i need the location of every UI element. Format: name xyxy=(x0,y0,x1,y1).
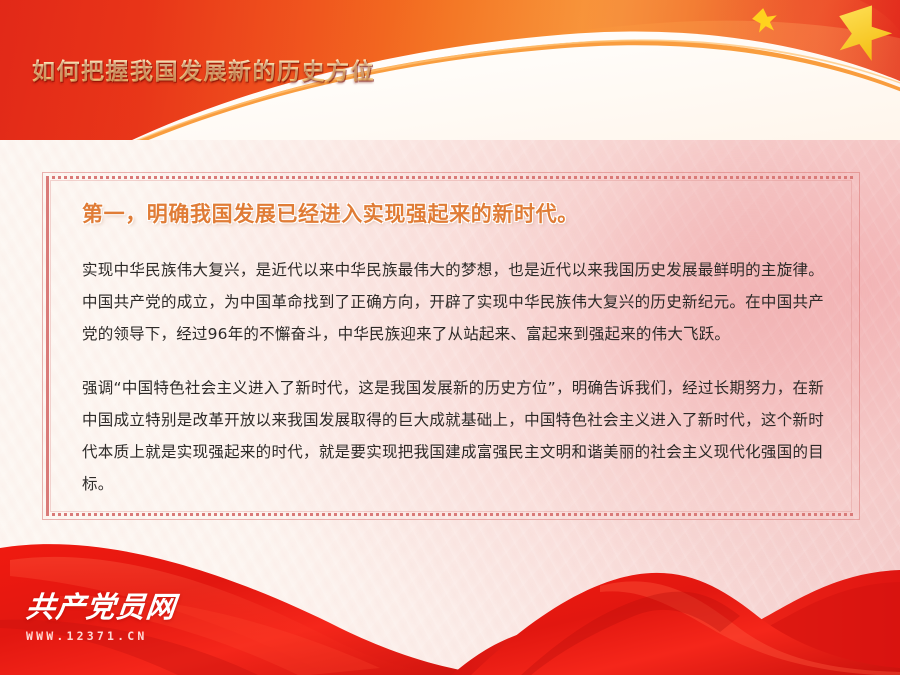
content-card: 第一，明确我国发展已经进入实现强起来的新时代。 实现中华民族伟大复兴，是近代以来… xyxy=(42,172,860,520)
flag-star-small-icon-1 xyxy=(750,6,779,35)
section-heading: 第一，明确我国发展已经进入实现强起来的新时代。 xyxy=(82,198,824,228)
poster-page: 如何把握我国发展新的历史方位 如何把握我国发展新的历史方位 第一，明确我国发展已… xyxy=(0,0,900,675)
body-paragraph-2: 强调“中国特色社会主义进入了新时代，这是我国发展新的历史方位”，明确告诉我们，经… xyxy=(82,372,824,500)
watermark-site-url: WWW.12371.CN xyxy=(26,629,201,643)
watermark: 共产党员网 WWW.12371.CN xyxy=(26,593,201,643)
footer-ribbon-graphic xyxy=(0,500,900,675)
header-title: 如何把握我国发展新的历史方位 xyxy=(32,52,375,86)
footer-ribbon: 共产党员网 WWW.12371.CN xyxy=(0,500,900,675)
header-banner: 如何把握我国发展新的历史方位 如何把握我国发展新的历史方位 xyxy=(0,0,900,140)
body-paragraph-1: 实现中华民族伟大复兴，是近代以来中华民族最伟大的梦想，也是近代以来我国历史发展最… xyxy=(82,254,824,350)
watermark-site-name: 共产党员网 xyxy=(24,593,202,622)
